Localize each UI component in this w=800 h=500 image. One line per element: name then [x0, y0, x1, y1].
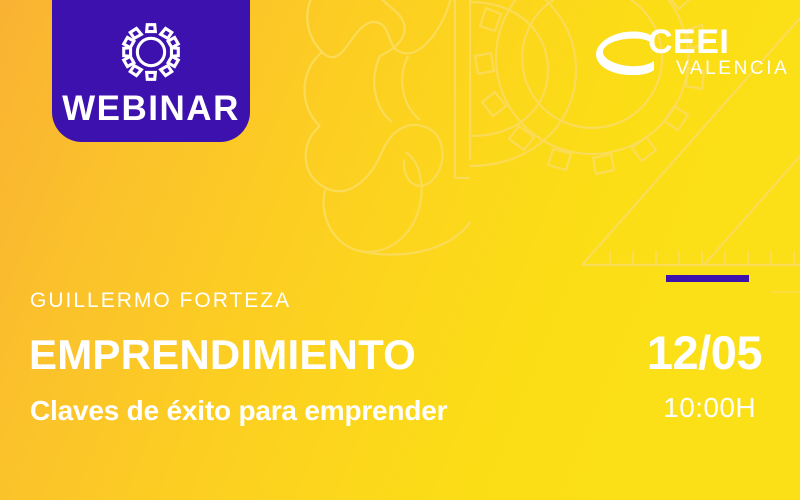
webinar-badge-label: WEBINAR	[62, 91, 240, 126]
page-subtitle: Claves de éxito para emprender	[30, 397, 447, 425]
event-time: 10:00H	[663, 394, 756, 422]
deco-squiggle-group	[304, 0, 470, 255]
page-title: EMPRENDIMIENTO	[29, 334, 416, 376]
gear-icon	[120, 21, 182, 83]
ceei-logo-subtitle: VALENCIA	[676, 59, 789, 78]
ceei-logo-name: CEEI	[648, 25, 729, 59]
deco-glyph-p	[455, 0, 576, 178]
ceei-logo: CEEI VALENCIA	[596, 18, 766, 84]
webinar-poster: WEBINAR CEEI VALENCIA GUILLERMO FORTEZA …	[0, 0, 800, 500]
event-date: 12/05	[647, 329, 762, 376]
deco-ruler-ticks	[610, 251, 794, 265]
date-accent-rule	[666, 275, 749, 282]
webinar-badge: WEBINAR	[52, 0, 250, 142]
speaker-name: GUILLERMO FORTEZA	[30, 290, 291, 311]
